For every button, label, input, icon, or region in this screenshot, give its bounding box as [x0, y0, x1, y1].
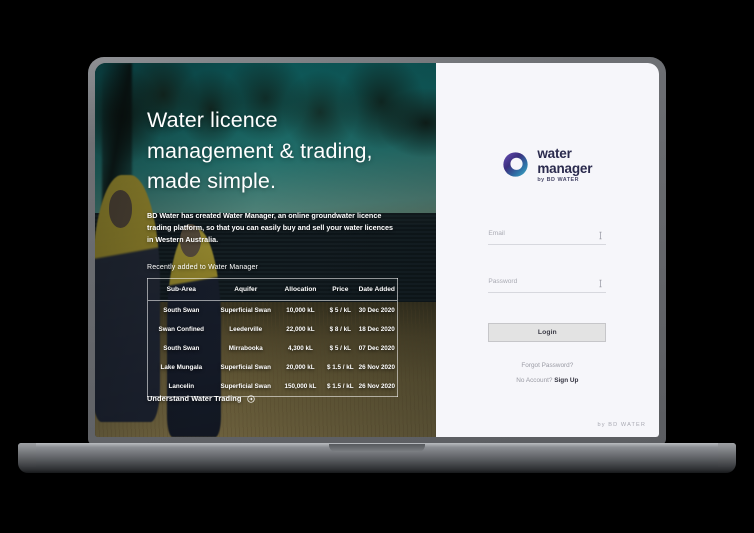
cell-sub-area: Swan Confined [148, 320, 215, 339]
cell-sub-area: South Swan [148, 300, 215, 320]
hero-title-line-1: Water licence [147, 105, 408, 136]
brand-line-1: water [537, 147, 592, 161]
understand-water-trading-label: Understand Water Trading [147, 394, 242, 403]
arrow-circle-right-icon [247, 395, 255, 403]
hero-title-line-3: made simple. [147, 166, 408, 197]
hero-subtitle: BD Water has created Water Manager, an o… [147, 210, 397, 247]
sign-up-link[interactable]: Sign Up [554, 377, 578, 384]
no-account-row: No Account? Sign Up [516, 377, 578, 384]
table-row[interactable]: South Swan Mirrabooka 4,300 kL $ 5 / kL … [148, 339, 398, 358]
cell-allocation: 150,000 kL [277, 377, 324, 397]
cursor-icon [598, 279, 606, 288]
screenshot-stage: Water licence management & trading, made… [0, 0, 754, 533]
table-header-price: Price [324, 278, 356, 300]
cell-price: $ 8 / kL [324, 320, 356, 339]
cell-price: $ 5 / kL [324, 339, 356, 358]
table-row[interactable]: Lake Mungala Superficial Swan 20,000 kL … [148, 358, 398, 377]
brand-lockup: water manager by BD WATER [502, 147, 592, 183]
no-account-label: No Account? [516, 377, 552, 384]
hero-panel: Water licence management & trading, made… [95, 63, 436, 437]
cell-price: $ 1.5 / kL [324, 358, 356, 377]
laptop-base-left-edge [18, 443, 36, 467]
cell-aquifer: Superficial Swan [215, 300, 277, 320]
brand-line-2: manager [537, 162, 592, 176]
cell-date-added: 26 Nov 2020 [357, 358, 398, 377]
cell-aquifer: Mirrabooka [215, 339, 277, 358]
hero-content: Water licence management & trading, made… [95, 63, 436, 397]
table-row[interactable]: South Swan Superficial Swan 10,000 kL $ … [148, 300, 398, 320]
cell-allocation: 4,300 kL [277, 339, 324, 358]
email-field-wrapper[interactable] [488, 222, 606, 245]
cell-allocation: 20,000 kL [277, 358, 324, 377]
login-panel: water manager by BD WATER [436, 63, 659, 437]
cell-sub-area: South Swan [148, 339, 215, 358]
login-button[interactable]: Login [488, 323, 606, 342]
table-header-date-added: Date Added [357, 278, 398, 300]
table-header-sub-area: Sub-Area [148, 278, 215, 300]
brand-tagline: by BD WATER [537, 178, 592, 183]
panel-footer-byline: by BD WATER [598, 422, 646, 428]
table-header-row: Sub-Area Aquifer Allocation Price Date A… [148, 278, 398, 300]
cell-sub-area: Lake Mungala [148, 358, 215, 377]
table-row[interactable]: Swan Confined Leederville 22,000 kL $ 8 … [148, 320, 398, 339]
cell-date-added: 07 Dec 2020 [357, 339, 398, 358]
login-form [488, 222, 606, 293]
understand-water-trading-link[interactable]: Understand Water Trading [147, 394, 255, 403]
cell-allocation: 10,000 kL [277, 300, 324, 320]
hero-title: Water licence management & trading, made… [147, 105, 408, 197]
laptop-lid: Water licence management & trading, made… [88, 57, 666, 445]
table-header-aquifer: Aquifer [215, 278, 277, 300]
hero-title-line-2: management & trading, [147, 136, 408, 167]
recently-added-label: Recently added to Water Manager [147, 264, 408, 271]
password-input[interactable] [488, 276, 606, 287]
cell-date-added: 26 Nov 2020 [357, 377, 398, 397]
cursor-icon [598, 231, 606, 240]
cell-allocation: 22,000 kL [277, 320, 324, 339]
recent-licences-table: Sub-Area Aquifer Allocation Price Date A… [147, 278, 398, 397]
cell-date-added: 30 Dec 2020 [357, 300, 398, 320]
cell-date-added: 18 Dec 2020 [357, 320, 398, 339]
email-input[interactable] [488, 228, 606, 239]
table-header-allocation: Allocation [277, 278, 324, 300]
laptop-base [18, 443, 736, 473]
forgot-password-link[interactable]: Forgot Password? [521, 362, 573, 369]
laptop-screen: Water licence management & trading, made… [95, 63, 659, 437]
cell-aquifer: Superficial Swan [215, 358, 277, 377]
cell-price: $ 1.5 / kL [324, 377, 356, 397]
cell-price: $ 5 / kL [324, 300, 356, 320]
laptop-base-right-edge [718, 443, 736, 467]
brand-wordmark: water manager by BD WATER [537, 147, 592, 183]
water-swirl-ring-icon [502, 151, 529, 178]
laptop-base-notch [329, 444, 425, 452]
password-field-wrapper[interactable] [488, 270, 606, 293]
cell-aquifer: Leederville [215, 320, 277, 339]
